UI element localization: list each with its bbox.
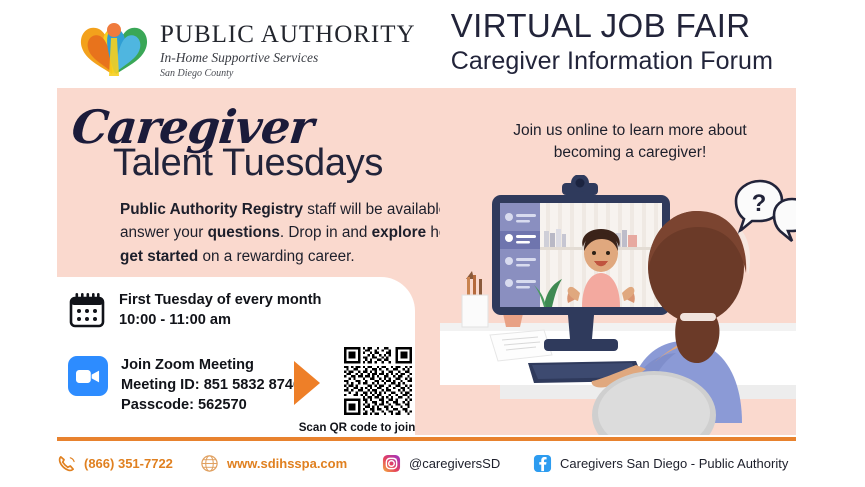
- contact-facebook[interactable]: Caregivers San Diego - Public Authority: [533, 454, 788, 473]
- event-title-block: VIRTUAL JOB FAIR Caregiver Information F…: [451, 8, 773, 76]
- body-text-2: . Drop in and: [280, 224, 372, 241]
- footer-divider: [57, 437, 796, 441]
- schedule-text: First Tuesday of every month 10:00 - 11:…: [119, 291, 321, 331]
- schedule-line-1: First Tuesday of every month: [119, 291, 321, 311]
- body-bold-questions: questions: [208, 224, 280, 241]
- brand-tagline: In-Home Supportive Services: [160, 51, 416, 66]
- zoom-meeting-row: Join Zoom Meeting Meeting ID: 851 5832 8…: [68, 356, 301, 416]
- zoom-meeting-id: Meeting ID: 851 5832 8746: [121, 376, 301, 396]
- body-text-4: on a rewarding career.: [198, 248, 354, 265]
- body-bold-registry: Public Authority Registry: [120, 201, 303, 218]
- arrow-right-icon: [294, 361, 320, 405]
- public-authority-butterfly-logo: [70, 14, 158, 80]
- globe-icon: [200, 454, 219, 473]
- facebook-page-name: Caregivers San Diego - Public Authority: [560, 456, 788, 471]
- headline-talent-tuesdays: Talent Tuesdays: [113, 142, 383, 185]
- body-bold-get-started: get started: [120, 248, 198, 265]
- header-bar: PUBLIC AUTHORITY In-Home Supportive Serv…: [0, 0, 865, 88]
- facebook-icon: [533, 454, 552, 473]
- schedule-row: First Tuesday of every month 10:00 - 11:…: [68, 291, 321, 331]
- svg-text:?: ?: [752, 190, 767, 217]
- paper-sheet: [490, 330, 552, 361]
- contact-phone[interactable]: (866) 351-7722: [57, 454, 173, 473]
- flyer-canvas: PUBLIC AUTHORITY In-Home Supportive Serv…: [0, 0, 865, 487]
- brand-county: San Diego County: [160, 68, 416, 79]
- instagram-handle: @caregiversSD: [409, 456, 500, 471]
- event-subtitle: Caregiver Information Forum: [451, 46, 773, 76]
- video-call-illustration: ?: [440, 175, 796, 435]
- intro-invitation-text: Join us online to learn more about becom…: [492, 120, 768, 165]
- contact-instagram[interactable]: @caregiversSD: [382, 454, 500, 473]
- event-title: VIRTUAL JOB FAIR: [451, 8, 773, 44]
- qr-code-image[interactable]: [344, 347, 412, 415]
- calendar-icon: [68, 291, 106, 329]
- body-bold-explore: explore: [372, 224, 426, 241]
- zoom-passcode: Passcode: 562570: [121, 396, 301, 416]
- website-url: www.sdihsspa.com: [227, 456, 347, 471]
- brand-name: PUBLIC AUTHORITY: [160, 22, 416, 47]
- zoom-video-icon: [68, 356, 108, 396]
- zoom-line-title: Join Zoom Meeting: [121, 356, 301, 376]
- qr-caption: Scan QR code to join: [296, 421, 418, 434]
- schedule-line-2: 10:00 - 11:00 am: [119, 311, 321, 331]
- footer-bar: (866) 351-7722 www.sdihsspa.com: [0, 444, 865, 487]
- contact-website[interactable]: www.sdihsspa.com: [200, 454, 347, 473]
- phone-icon: [57, 454, 76, 473]
- brand-text-block: PUBLIC AUTHORITY In-Home Supportive Serv…: [160, 22, 416, 79]
- phone-number: (866) 351-7722: [84, 456, 173, 471]
- body-paragraph: Public Authority Registry staff will be …: [120, 198, 492, 268]
- instagram-icon: [382, 454, 401, 473]
- zoom-meeting-text: Join Zoom Meeting Meeting ID: 851 5832 8…: [121, 356, 301, 416]
